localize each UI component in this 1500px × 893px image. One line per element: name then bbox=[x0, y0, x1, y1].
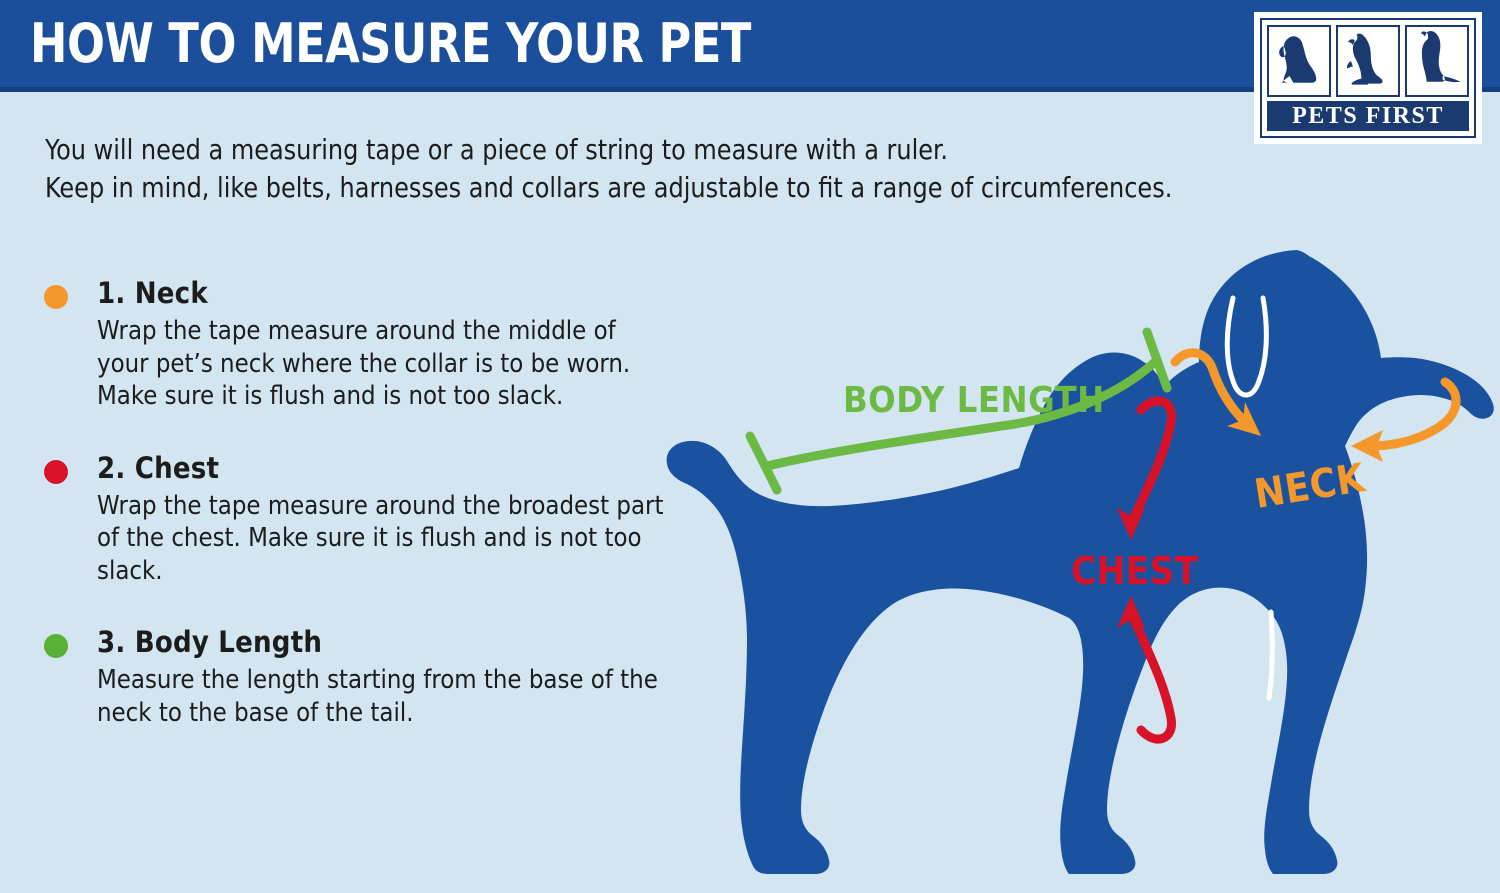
logo-wordmark: PETS FIRST bbox=[1267, 101, 1469, 131]
sitting-dog-icon bbox=[1267, 25, 1331, 97]
bullet-chest bbox=[44, 460, 68, 484]
chest-label: CHEST bbox=[1071, 549, 1199, 593]
step-neck: 1. Neck Wrap the tape measure around the… bbox=[40, 276, 680, 413]
step-body-length: 3. Body Length Measure the length starti… bbox=[40, 625, 680, 729]
intro-text: You will need a measuring tape or a piec… bbox=[45, 131, 1296, 207]
logo-frame: PETS FIRST bbox=[1260, 18, 1476, 138]
brand-logo: PETS FIRST bbox=[1254, 12, 1482, 144]
step-body-length-title: 3. Body Length bbox=[97, 625, 680, 659]
intro-line-2: Keep in mind, like belts, harnesses and … bbox=[45, 169, 1296, 207]
step-chest-title: 2. Chest bbox=[97, 451, 680, 485]
bullet-neck bbox=[44, 285, 68, 309]
infographic-page: HOW TO MEASURE YOUR PET bbox=[0, 0, 1500, 893]
begging-dog-icon bbox=[1336, 25, 1400, 97]
step-neck-title: 1. Neck bbox=[97, 276, 680, 310]
page-title: HOW TO MEASURE YOUR PET bbox=[30, 14, 751, 74]
logo-dog-row bbox=[1267, 25, 1469, 97]
step-neck-body: Wrap the tape measure around the middle … bbox=[97, 315, 672, 413]
body-length-label: BODY LENGTH bbox=[843, 380, 1105, 421]
intro-line-1: You will need a measuring tape or a piec… bbox=[45, 131, 1296, 169]
step-chest: 2. Chest Wrap the tape measure around th… bbox=[40, 451, 680, 588]
steps-list: 1. Neck Wrap the tape measure around the… bbox=[40, 276, 680, 767]
step-body-length-body: Measure the length starting from the bas… bbox=[97, 664, 672, 729]
alert-dog-icon bbox=[1405, 25, 1469, 97]
step-chest-body: Wrap the tape measure around the broades… bbox=[97, 490, 672, 588]
dog-measurement-diagram: BODY LENGTH CHEST NECK bbox=[655, 240, 1500, 893]
bullet-body-length bbox=[44, 634, 68, 658]
